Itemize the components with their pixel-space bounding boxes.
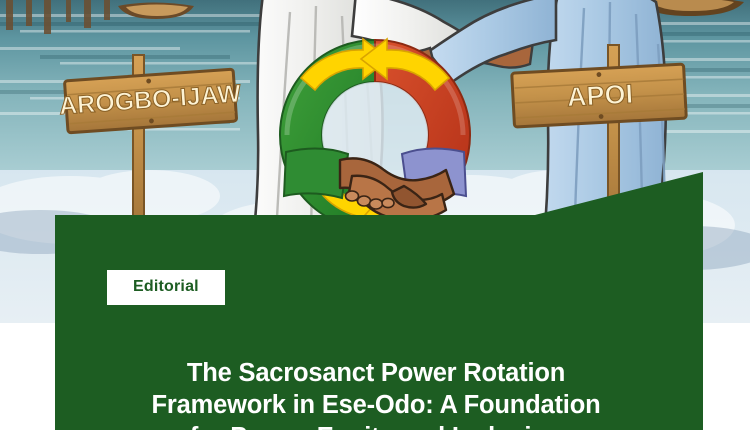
editorial-badge: Editorial bbox=[107, 270, 225, 305]
headline: The Sacrosanct Power Rotation Framework … bbox=[62, 357, 690, 430]
sign-right-text: APOI bbox=[566, 79, 633, 112]
editorial-card: AROGBO-IJAW APOI bbox=[0, 0, 750, 430]
